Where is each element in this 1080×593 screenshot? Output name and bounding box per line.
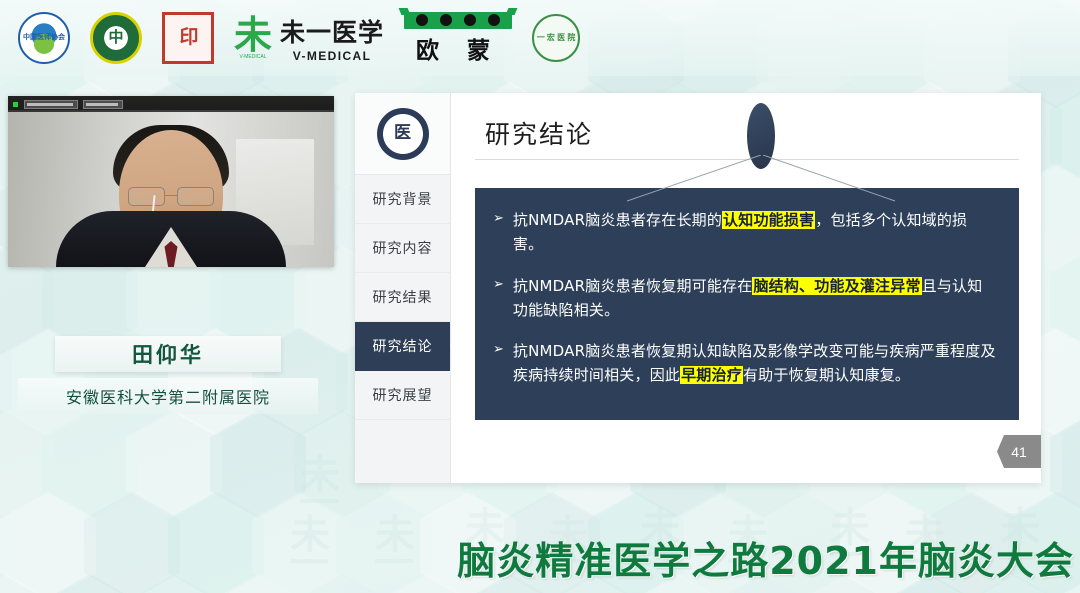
slide-section-nav: 医 研究背景研究内容研究结果研究结论研究展望 — [355, 93, 451, 483]
bullet-text-run: 抗NMDAR脑炎患者存在长期的 — [513, 211, 722, 229]
slide-nav-item-0[interactable]: 研究背景 — [355, 175, 450, 224]
logo-tcm-association-text: 中 — [108, 30, 123, 46]
conclusion-bullet: ➢抗NMDAR脑炎患者恢复期认知缺陷及影像学改变可能与疾病严重程度及疾病持续时间… — [493, 339, 997, 388]
speaker-nameplate: 田仰华 — [55, 336, 281, 372]
speaker-name: 田仰华 — [132, 339, 204, 369]
logo-tcm-association-seal: 中 — [90, 12, 142, 64]
bullet-text-run: 有助于恢复期认知康复。 — [743, 366, 910, 384]
euroimmun-text: 欧 蒙 — [416, 31, 500, 65]
v-medical-mark-sub: V-MEDICAL — [234, 54, 272, 60]
slide-nav-item-label: 研究展望 — [373, 385, 433, 405]
conclusion-bullet: ➢抗NMDAR脑炎患者恢复期可能存在脑结构、功能及灌注异常且与认知功能缺陷相关。 — [493, 274, 997, 323]
presentation-slide: 医 研究背景研究内容研究结果研究结论研究展望 研究结论 ➢抗NMDAR脑炎患者存… — [355, 93, 1041, 483]
conference-banner: 脑炎精准医学之路2021年脑炎大会 — [0, 521, 1080, 593]
video-overlay-bar — [8, 96, 334, 112]
slide-content: 研究结论 ➢抗NMDAR脑炎患者存在长期的认知功能损害，包括多个认知域的损害。➢… — [451, 93, 1041, 483]
logo-hospital-green-seal: 一 宏 医 院 — [532, 14, 580, 62]
logo-red-stamp-text: 印 — [179, 29, 196, 46]
conclusion-bullet-text: 抗NMDAR脑炎患者存在长期的认知功能损害，包括多个认知域的损害。 — [513, 208, 997, 257]
highlighted-phrase: 早期治疗 — [680, 366, 743, 384]
sponsor-logo-bar: 中国医师协会 中 印 未 V-MEDICAL 未一医学 V-MEDICAL 欧 … — [0, 0, 1080, 76]
glasses-icon — [128, 187, 214, 206]
conclusion-box: ➢抗NMDAR脑炎患者存在长期的认知功能损害，包括多个认知域的损害。➢抗NMDA… — [475, 188, 1019, 420]
screen-root: 未未未未未未未未未未 中国医师协会 中 印 未 V-MEDICAL 未一医学 V… — [0, 0, 1080, 593]
watermark-logo: 未 — [300, 455, 340, 503]
slide-nav-item-4[interactable]: 研究展望 — [355, 371, 450, 420]
speaker-affiliation: 安徽医科大学第二附属医院 — [66, 384, 270, 408]
title-divider — [475, 159, 1019, 160]
university-logo: 医 — [355, 93, 450, 175]
conclusion-bullet-text: 抗NMDAR脑炎患者恢复期认知缺陷及影像学改变可能与疾病严重程度及疾病持续时间相… — [513, 339, 997, 388]
video-overlay-badge — [83, 100, 123, 109]
v-medical-en: V-MEDICAL — [280, 49, 384, 63]
logo-v-medical: 未 V-MEDICAL 未一医学 V-MEDICAL — [234, 13, 384, 63]
slide-nav-list: 研究背景研究内容研究结果研究结论研究展望 — [355, 175, 450, 420]
euroimmun-bar-icon — [404, 12, 512, 29]
anhui-medical-university-seal: 医 — [377, 108, 429, 160]
slide-nav-item-3[interactable]: 研究结论 — [355, 322, 450, 371]
logo-euroimmun: 欧 蒙 — [404, 12, 512, 65]
conference-title: 脑炎精准医学之路2021年脑炎大会 — [457, 530, 1074, 585]
bullet-arrow-icon: ➢ — [493, 339, 504, 359]
hospital-seal-text: 一 宏 医 院 — [537, 34, 576, 43]
bullet-text-run: 抗NMDAR脑炎患者恢复期可能存在 — [513, 277, 753, 295]
bullet-arrow-icon: ➢ — [493, 208, 504, 228]
slide-nav-item-2[interactable]: 研究结果 — [355, 273, 450, 322]
conclusion-bullet-text: 抗NMDAR脑炎患者恢复期可能存在脑结构、功能及灌注异常且与认知功能缺陷相关。 — [513, 274, 997, 323]
video-overlay-badge — [24, 100, 78, 109]
v-medical-wordmark: 未一医学 V-MEDICAL — [280, 13, 384, 63]
slide-nav-item-1[interactable]: 研究内容 — [355, 224, 450, 273]
logo-china-health-seal: 中国医师协会 — [18, 12, 70, 64]
slide-nav-item-label: 研究背景 — [373, 189, 433, 209]
logo-china-health-seal-text: 中国医师协会 — [23, 34, 65, 41]
slide-nav-item-label: 研究内容 — [373, 238, 433, 258]
speaker-video-tile[interactable] — [8, 96, 334, 267]
bullet-arrow-icon: ➢ — [493, 274, 504, 294]
v-medical-cn: 未一医学 — [280, 13, 384, 49]
recording-status-icon — [12, 101, 19, 108]
slide-nav-item-label: 研究结论 — [373, 336, 433, 356]
v-medical-mark: 未 V-MEDICAL — [234, 16, 272, 60]
highlighted-phrase: 认知功能损害 — [722, 211, 815, 229]
conclusion-bullet: ➢抗NMDAR脑炎患者存在长期的认知功能损害，包括多个认知域的损害。 — [493, 208, 997, 257]
slide-nav-item-label: 研究结果 — [373, 287, 433, 307]
decorative-ellipse — [747, 103, 775, 169]
speaker-affiliation-plate: 安徽医科大学第二附属医院 — [18, 378, 318, 414]
speaker-suit — [56, 211, 286, 267]
slide-page-number: 41 — [997, 435, 1041, 468]
logo-red-stamp-seal: 印 — [162, 12, 214, 64]
highlighted-phrase: 脑结构、功能及灌注异常 — [752, 277, 921, 295]
university-seal-mark: 医 — [394, 124, 411, 143]
